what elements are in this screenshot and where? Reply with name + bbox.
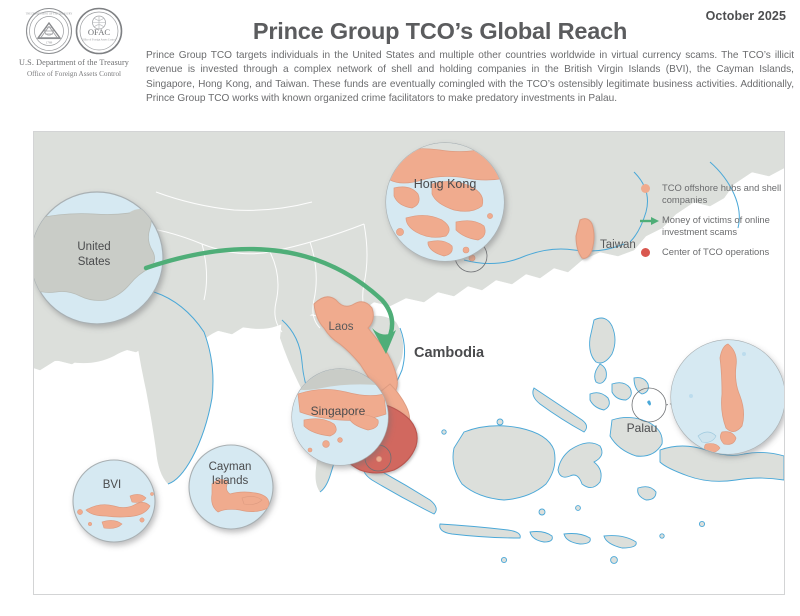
callout-cayman-islands: Cayman Islands — [189, 445, 273, 529]
treasury-seal-icon: 1789 THE DEPARTMENT OF THE TREASURY — [25, 7, 73, 55]
callout-bvi: BVI — [73, 460, 155, 542]
map-label-cayman-line2: Islands — [212, 475, 249, 487]
palau-inset-content — [671, 340, 784, 454]
map-label-taiwan: Taiwan — [600, 239, 636, 251]
ofac-acronym-text: OFAC — [88, 27, 111, 37]
map-label-cambodia: Cambodia — [414, 345, 485, 361]
singapore-locator-dot — [376, 456, 381, 461]
legend-label-center-operations: Center of TCO operations — [662, 246, 769, 258]
map-label-united-states-line1: United — [77, 241, 110, 253]
legend-item-money-flow: Money of victims of online investment sc… — [640, 214, 790, 237]
agency-subtitle-label: Office of Foreign Assets Control — [8, 69, 140, 79]
map-label-cayman-line1: Cayman — [209, 461, 252, 473]
agency-name-label: U.S. Department of the Treasury — [8, 58, 140, 69]
seal-row: 1789 THE DEPARTMENT OF THE TREASURY OFAC… — [8, 6, 140, 56]
page-title: Prince Group TCO’s Global Reach — [140, 18, 740, 45]
map-label-laos: Laos — [329, 321, 354, 333]
intro-paragraph: Prince Group TCO targets individuals in … — [146, 49, 794, 107]
legend-item-offshore-hubs: TCO offshore hubs and shell companies — [640, 182, 790, 205]
legend-dot-center-operations-icon — [640, 246, 662, 257]
ofac-seal-icon: OFAC Office of Foreign Assets Control — [75, 7, 123, 55]
legend-arrow-money-flow-icon — [640, 214, 662, 226]
map-label-bvi: BVI — [103, 479, 122, 491]
agency-seal-block: 1789 THE DEPARTMENT OF THE TREASURY OFAC… — [8, 6, 140, 79]
callout-united-states: United States — [34, 192, 163, 324]
svg-text:Office of Foreign Assets Contr: Office of Foreign Assets Control — [82, 39, 116, 42]
cayman-inset-circle — [189, 445, 273, 529]
map-label-palau: Palau — [627, 421, 658, 435]
svg-text:THE DEPARTMENT OF THE TREASURY: THE DEPARTMENT OF THE TREASURY — [26, 13, 73, 16]
map-label-singapore: Singapore — [311, 404, 366, 418]
legend-dot-offshore-hubs-icon — [640, 182, 662, 193]
map-label-united-states-line2: States — [78, 256, 111, 268]
country-taiwan — [576, 219, 594, 259]
legend-label-offshore-hubs: TCO offshore hubs and shell companies — [662, 182, 790, 205]
legend-label-money-flow: Money of victims of online investment sc… — [662, 214, 790, 237]
svg-text:1789: 1789 — [46, 41, 53, 45]
page-header: 1789 THE DEPARTMENT OF THE TREASURY OFAC… — [0, 0, 800, 131]
map-label-hong-kong: Hong Kong — [414, 177, 477, 191]
map-legend: TCO offshore hubs and shell companies Mo… — [640, 182, 790, 267]
legend-item-center-operations: Center of TCO operations — [640, 246, 790, 258]
